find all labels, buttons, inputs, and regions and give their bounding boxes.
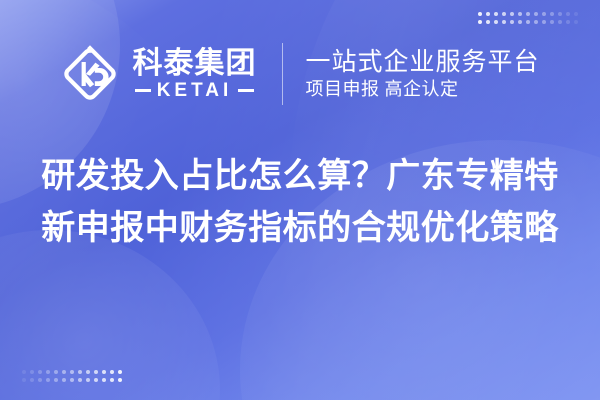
headline-line-2: 新申报中财务指标的合规优化策略	[41, 204, 559, 252]
dot-icon	[518, 20, 522, 24]
dot-icon	[478, 20, 482, 24]
dot-icon	[78, 378, 82, 382]
dot-grid-row	[478, 12, 578, 16]
vertical-divider-icon	[282, 43, 283, 105]
dot-icon	[494, 12, 498, 16]
dot-grid-row	[22, 370, 122, 374]
tagline-secondary: 项目申报 高企认定	[305, 80, 539, 99]
dot-icon	[510, 12, 514, 16]
dot-icon	[46, 370, 50, 374]
brand-name-cn: 科泰集团	[132, 49, 256, 79]
dot-icon	[526, 20, 530, 24]
dot-icon	[558, 20, 562, 24]
dot-icon	[534, 20, 538, 24]
dot-icon	[526, 12, 530, 16]
dot-icon	[534, 12, 538, 16]
dot-icon	[38, 378, 42, 382]
dot-icon	[574, 12, 578, 16]
brand-dash-right-icon	[238, 89, 254, 92]
dot-icon	[542, 12, 546, 16]
dot-icon	[566, 20, 570, 24]
dot-icon	[70, 370, 74, 374]
dot-icon	[574, 20, 578, 24]
dot-icon	[110, 370, 114, 374]
tagline-primary: 一站式企业服务平台	[305, 49, 539, 75]
dot-icon	[86, 370, 90, 374]
dot-icon	[110, 378, 114, 382]
dot-icon	[46, 378, 50, 382]
dot-icon	[22, 370, 26, 374]
brand-dash-left-icon	[135, 89, 151, 92]
dot-icon	[102, 378, 106, 382]
dot-icon	[62, 378, 66, 382]
dot-icon	[542, 20, 546, 24]
promo-banner: 科泰集团 KETAI 一站式企业服务平台 项目申报 高企认定 研发投入占比怎么算…	[0, 0, 600, 400]
brand-name-en-row: KETAI	[135, 81, 255, 100]
dot-icon	[502, 12, 506, 16]
dot-icon	[502, 20, 506, 24]
dot-icon	[558, 12, 562, 16]
brand-wordmark: 科泰集团 KETAI	[132, 49, 256, 100]
dot-icon	[78, 370, 82, 374]
dot-icon	[38, 370, 42, 374]
dot-icon	[478, 12, 482, 16]
dot-grid-icon-bottom-left	[22, 370, 122, 382]
dot-icon	[550, 12, 554, 16]
dot-icon	[94, 370, 98, 374]
dot-icon	[86, 378, 90, 382]
dot-icon	[510, 20, 514, 24]
page-title: 研发投入占比怎么算？广东专精特 新申报中财务指标的合规优化策略	[0, 152, 600, 253]
dot-grid-icon-top-right	[478, 12, 578, 24]
dot-icon	[30, 378, 34, 382]
headline-line-1: 研发投入占比怎么算？广东专精特	[41, 152, 559, 200]
brand-logo: 科泰集团 KETAI	[60, 44, 256, 104]
dot-icon	[518, 12, 522, 16]
dot-grid-row	[22, 378, 122, 382]
dot-icon	[70, 378, 74, 382]
tagline-block: 一站式企业服务平台 项目申报 高企认定	[305, 49, 539, 99]
dot-grid-row	[478, 20, 578, 24]
dot-icon	[94, 378, 98, 382]
dot-icon	[118, 370, 122, 374]
dot-icon	[494, 20, 498, 24]
dot-icon	[486, 12, 490, 16]
dot-icon	[486, 20, 490, 24]
dot-icon	[62, 370, 66, 374]
dot-icon	[118, 378, 122, 382]
dot-icon	[22, 378, 26, 382]
dot-icon	[550, 20, 554, 24]
brand-name-en: KETAI	[157, 81, 233, 100]
dot-icon	[54, 370, 58, 374]
dot-icon	[566, 12, 570, 16]
dot-icon	[30, 370, 34, 374]
dot-icon	[102, 370, 106, 374]
dot-icon	[54, 378, 58, 382]
ketai-diamond-kd-logo-icon	[60, 44, 120, 104]
banner-header: 科泰集团 KETAI 一站式企业服务平台 项目申报 高企认定	[0, 38, 600, 110]
